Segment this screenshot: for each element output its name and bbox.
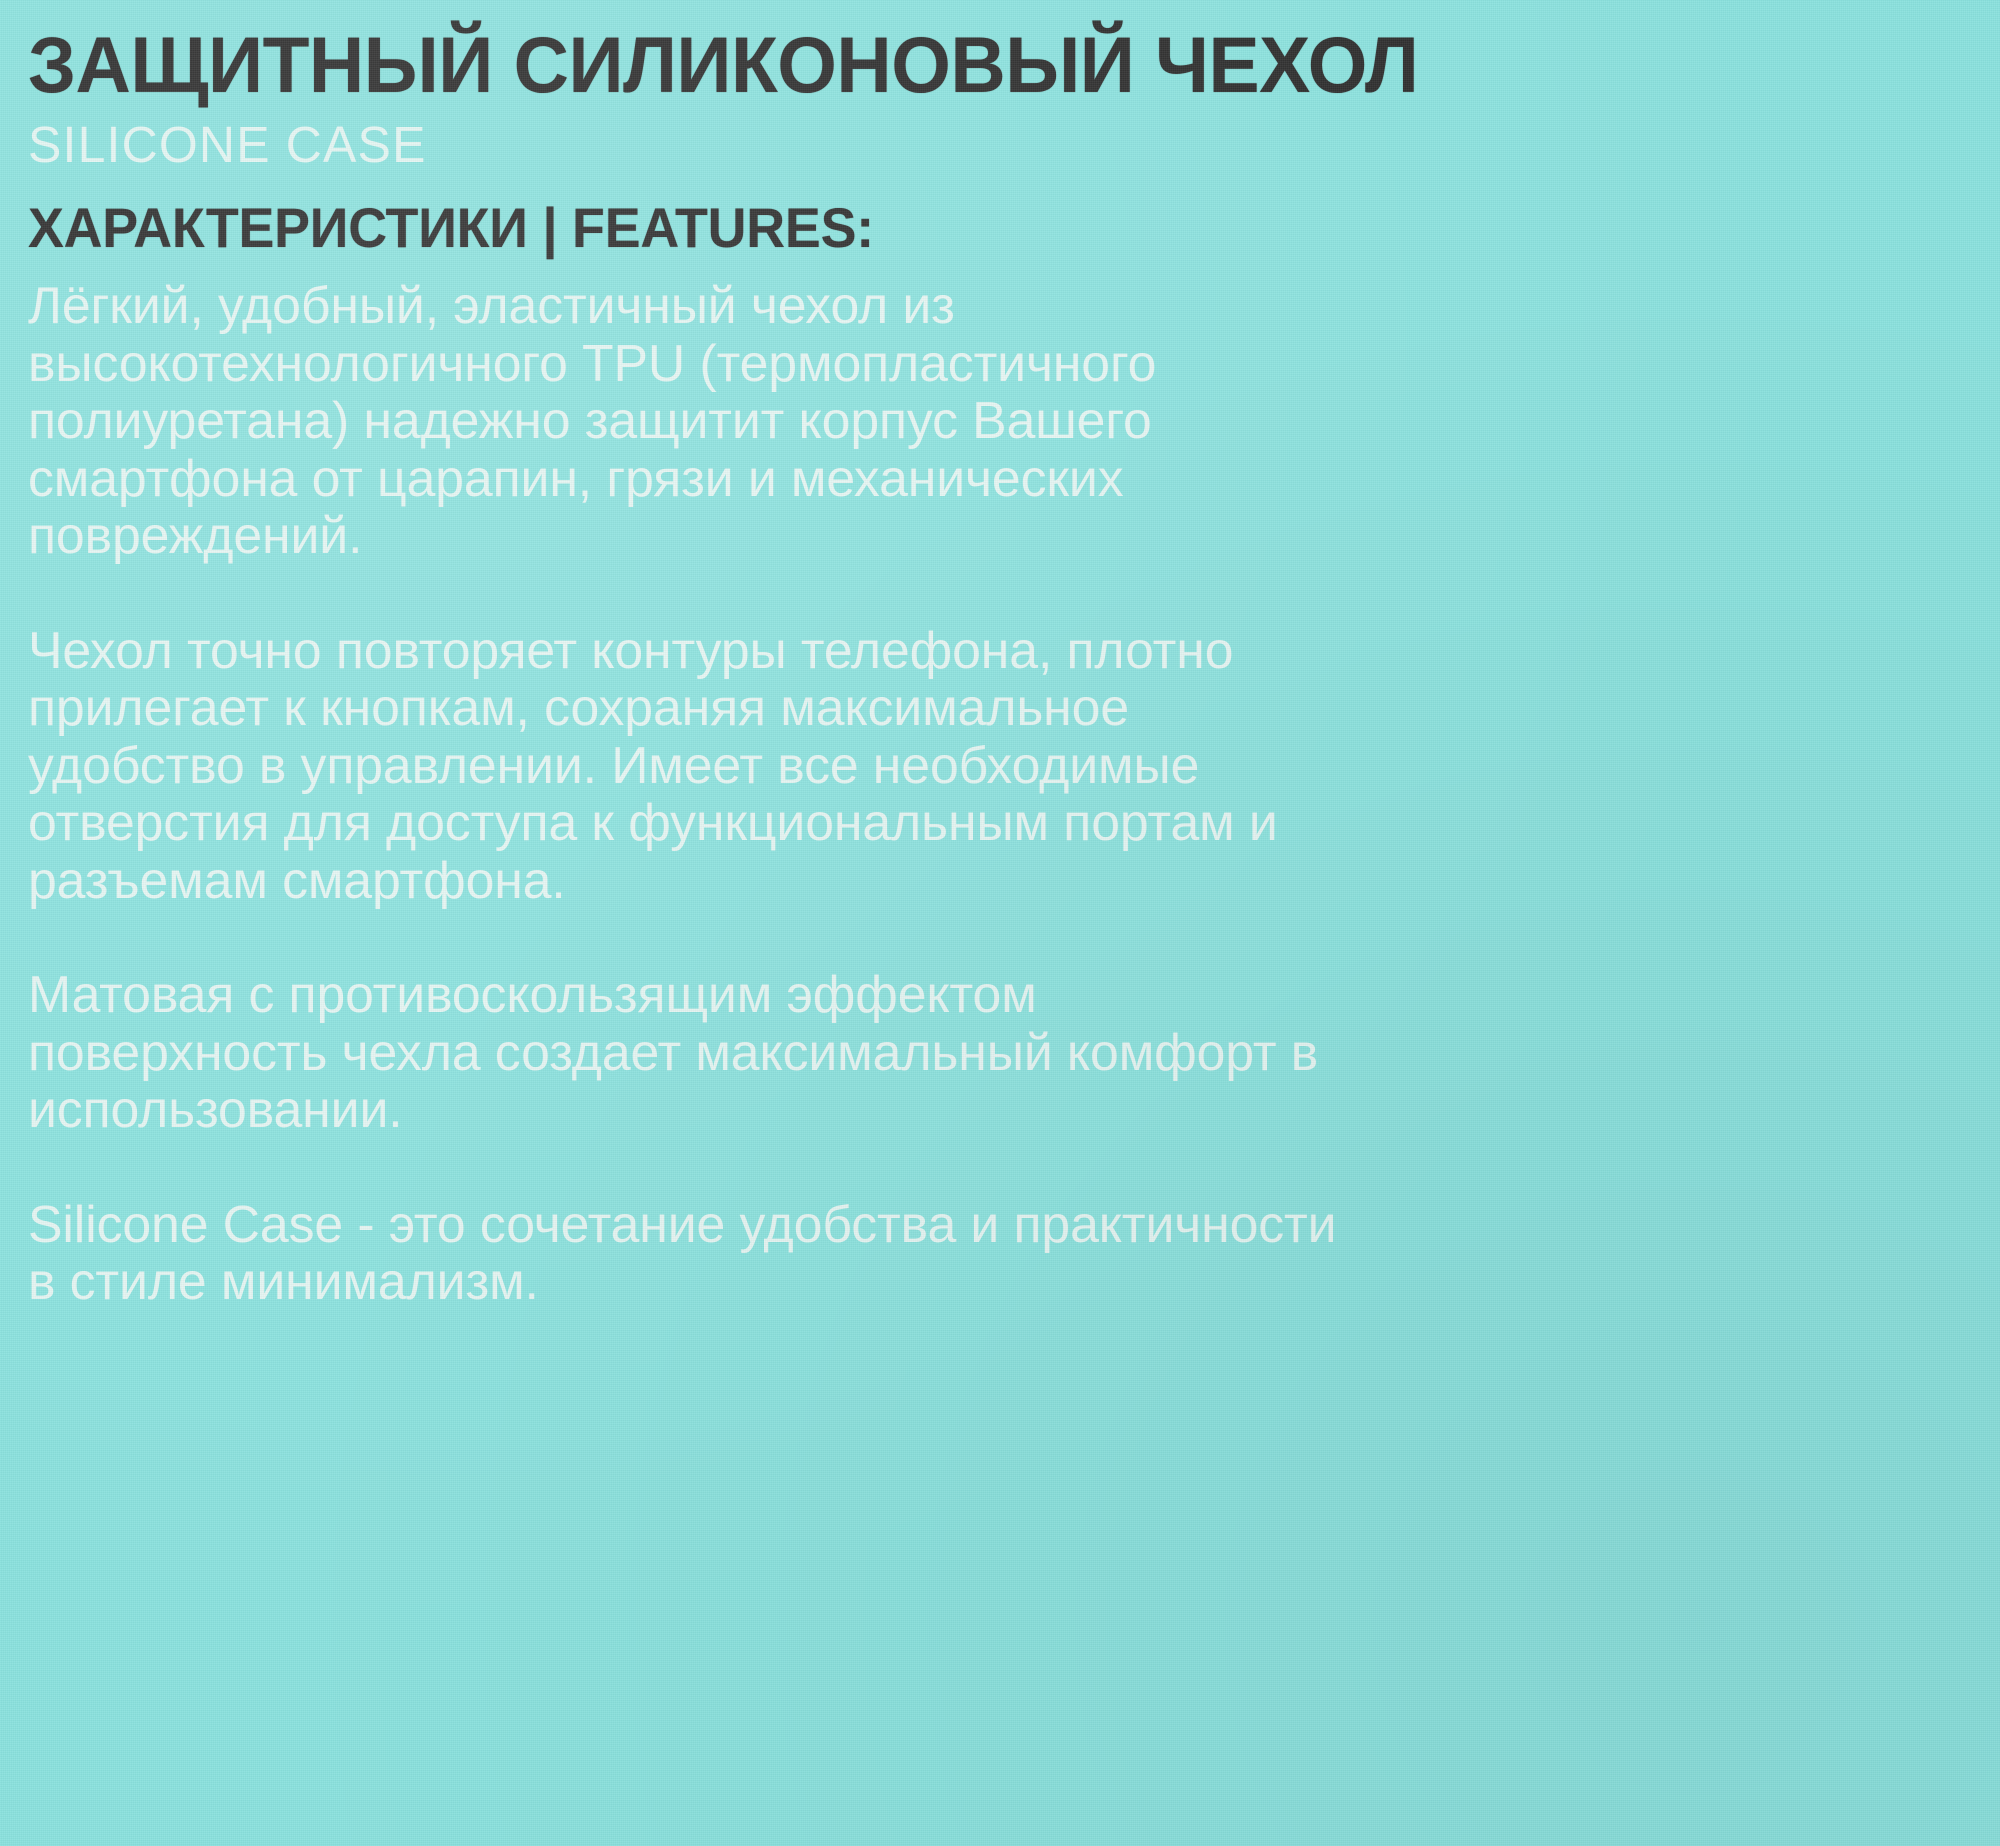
paragraph-line: Матовая с противоскользящим эффектом: [28, 967, 1983, 1025]
paragraph-line: Лёгкий, удобный, эластичный чехол из: [28, 278, 1983, 336]
paragraph-line: отверстия для доступа к функциональным п…: [28, 795, 1983, 853]
paragraph-line: полиуретана) надежно защитит корпус Ваше…: [28, 393, 1983, 451]
paragraph-line: смартфона от царапин, грязи и механическ…: [28, 451, 1983, 509]
product-packaging-label: ЗАЩИТНЫЙ СИЛИКОНОВЫЙ ЧЕХОЛ SILICONE CASE…: [0, 0, 2000, 1846]
paragraph-line: разъемам смартфона.: [28, 853, 1983, 911]
paragraph-line: высокотехнологичного TPU (термопластично…: [28, 336, 1983, 394]
paragraph-line: повреждений.: [28, 508, 1983, 566]
feature-paragraph-2: Чехол точно повторяет контуры телефона, …: [28, 623, 1983, 911]
product-title-ru: ЗАЩИТНЫЙ СИЛИКОНОВЫЙ ЧЕХОЛ: [28, 0, 1941, 103]
features-description-block: Лёгкий, удобный, эластичный чехол из выс…: [28, 256, 1993, 1312]
product-title-en: SILICONE CASE: [28, 103, 1961, 170]
paragraph-line: удобство в управлении. Имеет все необход…: [28, 738, 1983, 796]
label-content: ЗАЩИТНЫЙ СИЛИКОНОВЫЙ ЧЕХОЛ SILICONE CASE…: [0, 0, 2000, 1312]
feature-paragraph-1: Лёгкий, удобный, эластичный чехол из выс…: [28, 278, 1983, 566]
paragraph-line: Silicone Case - это сочетание удобства и…: [28, 1197, 1983, 1255]
paragraph-line: Чехол точно повторяет контуры телефона, …: [28, 623, 1983, 681]
paragraph-line: поверхность чехла создает максимальный к…: [28, 1025, 1983, 1083]
paragraph-line: в стиле минимализм.: [28, 1254, 1983, 1312]
paragraph-line: использовании.: [28, 1082, 1983, 1140]
features-heading: ХАРАКТЕРИСТИКИ | FEATURES:: [28, 170, 1921, 256]
feature-paragraph-3: Матовая с противоскользящим эффектом пов…: [28, 967, 1983, 1140]
paragraph-line: прилегает к кнопкам, сохраняя максимальн…: [28, 680, 1983, 738]
feature-paragraph-4: Silicone Case - это сочетание удобства и…: [28, 1197, 1983, 1312]
